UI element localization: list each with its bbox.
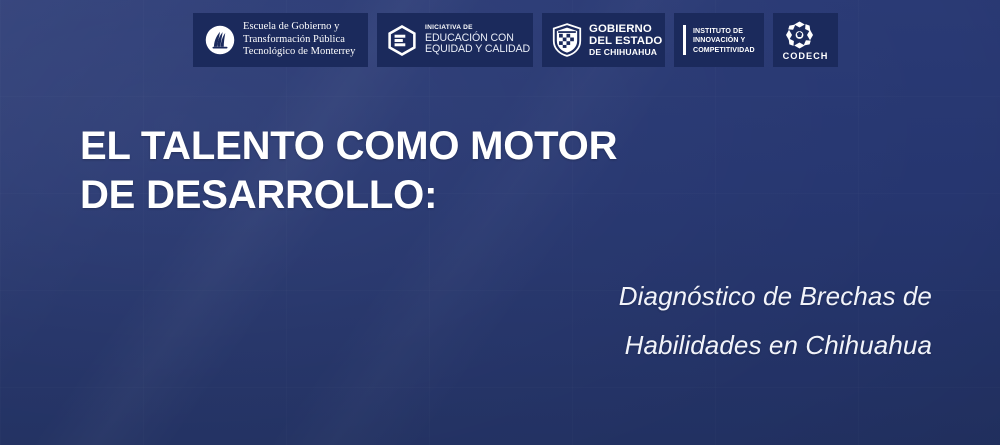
logo-tec-de-monterrey: Escuela de Gobierno y Transformación Púb… — [193, 13, 368, 67]
logo-gobierno-chihuahua: GOBIERNO DEL ESTADO DE CHIHUAHUA — [542, 13, 665, 67]
logo-gobierno-text: GOBIERNO DEL ESTADO DE CHIHUAHUA — [589, 23, 662, 57]
subtitle-line-1: Diagnóstico de Brechas de — [462, 272, 932, 321]
logo-iic-line2: INNOVACIÓN Y — [693, 35, 755, 44]
tec-flame-icon — [205, 25, 235, 55]
title-slide: Escuela de Gobierno y Transformación Púb… — [0, 0, 1000, 445]
logo-tec-line2: Transformación Pública — [243, 34, 355, 47]
logo-iniciativa-educacion: INICIATIVA DE EDUCACIÓN CON EQUIDAD Y CA… — [377, 13, 533, 67]
chihuahua-shield-icon — [552, 23, 582, 57]
logo-iic-line3: COMPETITIVIDAD — [693, 45, 755, 54]
logo-instituto-innovacion: INSTITUTO DE INNOVACIÓN Y COMPETITIVIDAD — [674, 13, 764, 67]
logo-gobierno-line1: GOBIERNO — [589, 23, 662, 35]
headline-line-1: EL TALENTO COMO MOTOR — [80, 122, 780, 171]
logo-iec-text: INICIATIVA DE EDUCACIÓN CON EQUIDAD Y CA… — [425, 24, 530, 55]
logo-tec-line1: Escuela de Gobierno y — [243, 21, 355, 34]
slide-subtitle: Diagnóstico de Brechas de Habilidades en… — [462, 272, 932, 370]
headline-line-2: DE DESARROLLO: — [80, 171, 780, 220]
subtitle-line-2: Habilidades en Chihuahua — [462, 321, 932, 370]
logo-codech: CODECH — [773, 13, 838, 67]
logo-tec-text: Escuela de Gobierno y Transformación Púb… — [243, 21, 355, 59]
logo-gobierno-line2: DEL ESTADO — [589, 35, 662, 47]
iec-hexagon-icon — [387, 24, 417, 57]
partner-logo-bar: Escuela de Gobierno y Transformación Púb… — [193, 13, 838, 67]
slide-headline: EL TALENTO COMO MOTOR DE DESARROLLO: — [80, 122, 780, 220]
logo-tec-line3: Tecnológico de Monterrey — [243, 46, 355, 59]
logo-iec-line3: EQUIDAD Y CALIDAD — [425, 44, 530, 56]
logo-codech-label: CODECH — [783, 51, 829, 61]
codech-octagon-icon — [783, 20, 816, 50]
vertical-bar-icon — [683, 25, 686, 55]
logo-gobierno-line3: DE CHIHUAHUA — [589, 47, 662, 57]
logo-iic-text: INSTITUTO DE INNOVACIÓN Y COMPETITIVIDAD — [693, 26, 759, 54]
logo-iic-line1: INSTITUTO DE — [693, 26, 755, 35]
